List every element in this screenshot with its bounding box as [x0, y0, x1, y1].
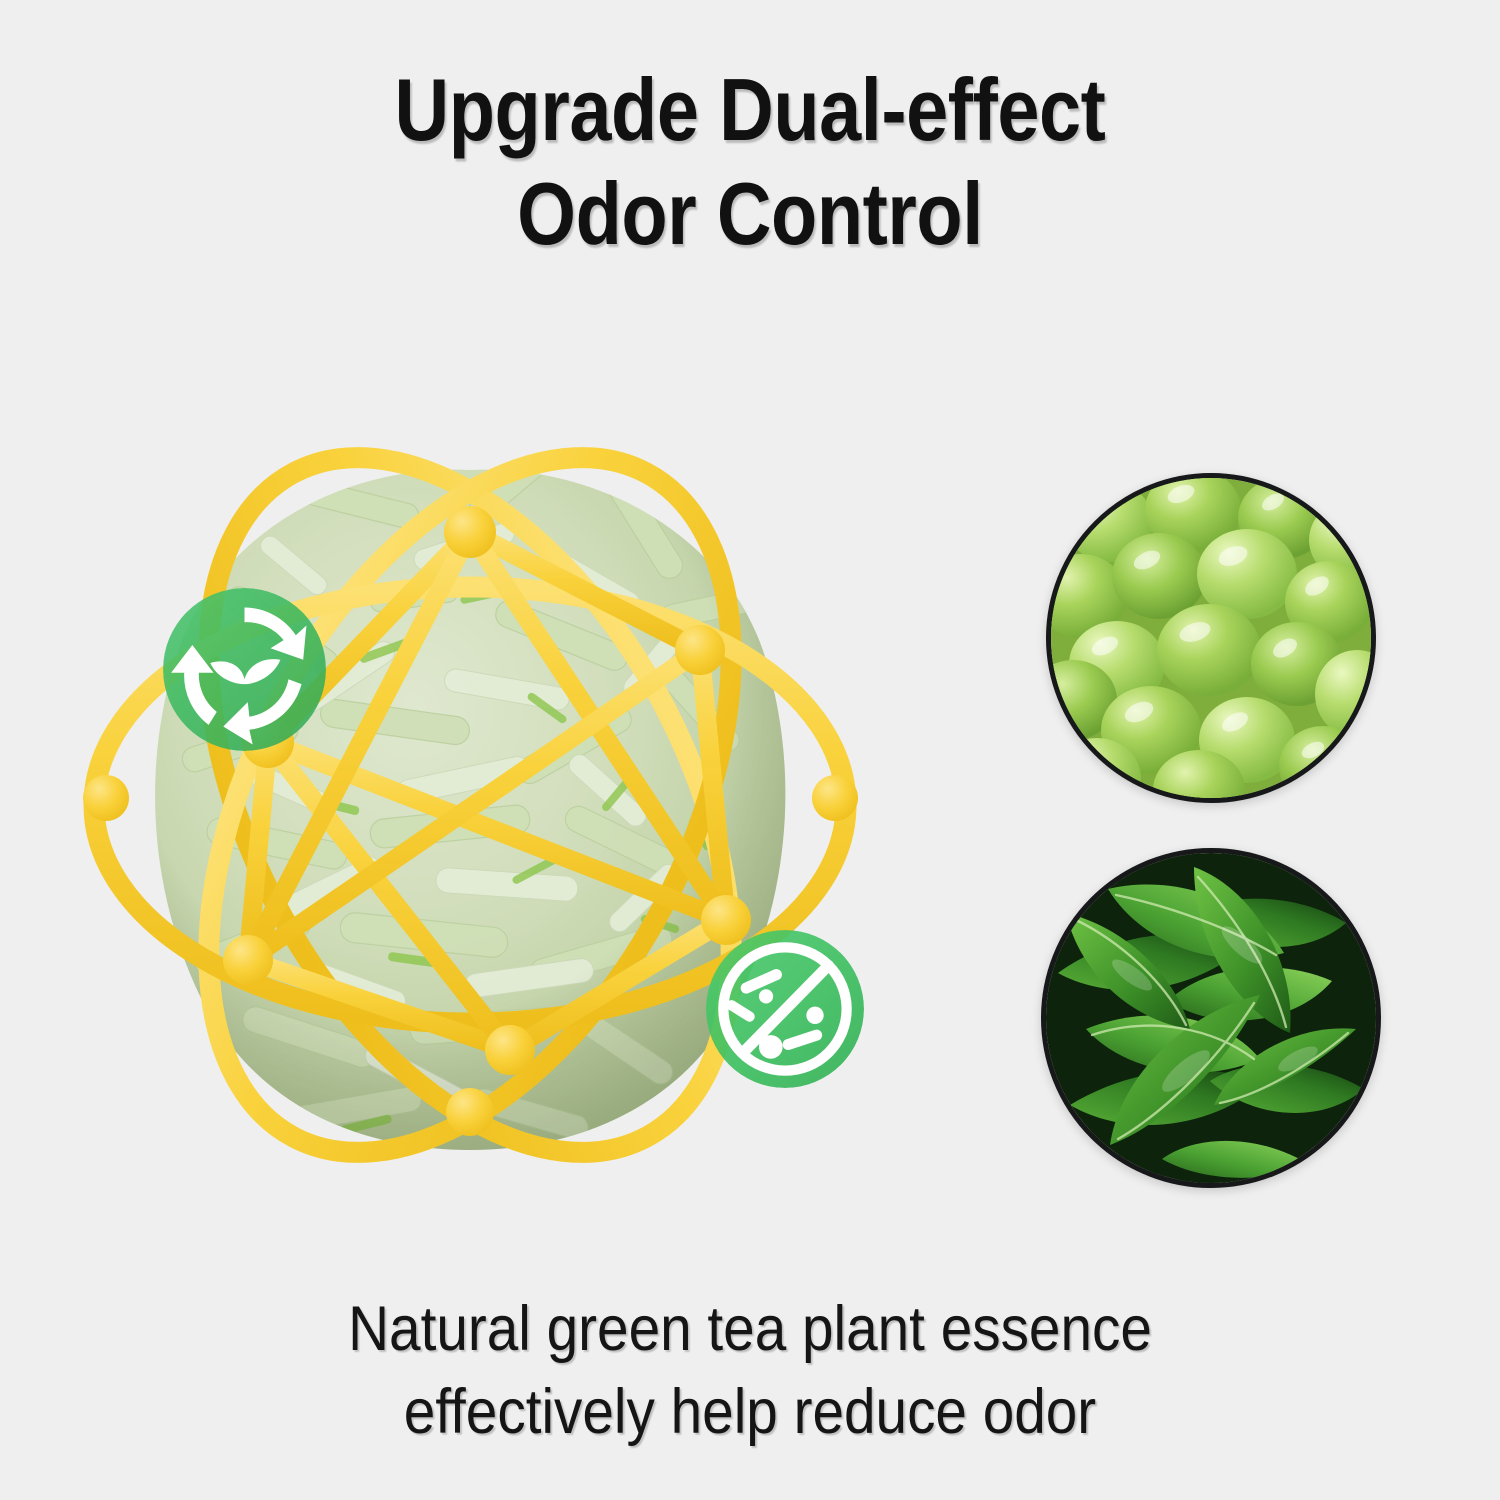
molecular-orbit-structure [40, 360, 900, 1220]
feature-caption-line-2: effectively help reduce odor [75, 1371, 1425, 1454]
anti-bacteria-badge [706, 930, 864, 1088]
product-feature-graphic: Upgrade Dual-effect Odor Control [0, 0, 1500, 1500]
tea-leaves-photo [1041, 848, 1381, 1188]
green-peas-photo [1046, 473, 1376, 803]
page-title-line-1: Upgrade Dual-effect [105, 58, 1395, 162]
feature-caption-line-1: Natural green tea plant essence [75, 1288, 1425, 1371]
page-title-line-2: Odor Control [105, 162, 1395, 266]
feature-caption: Natural green tea plant essence effectiv… [75, 1288, 1425, 1454]
page-title: Upgrade Dual-effect Odor Control [105, 58, 1395, 266]
tea-leaves-icon [1046, 853, 1376, 1183]
eco-recycle-badge [163, 588, 326, 751]
green-peas-icon [1051, 478, 1371, 798]
